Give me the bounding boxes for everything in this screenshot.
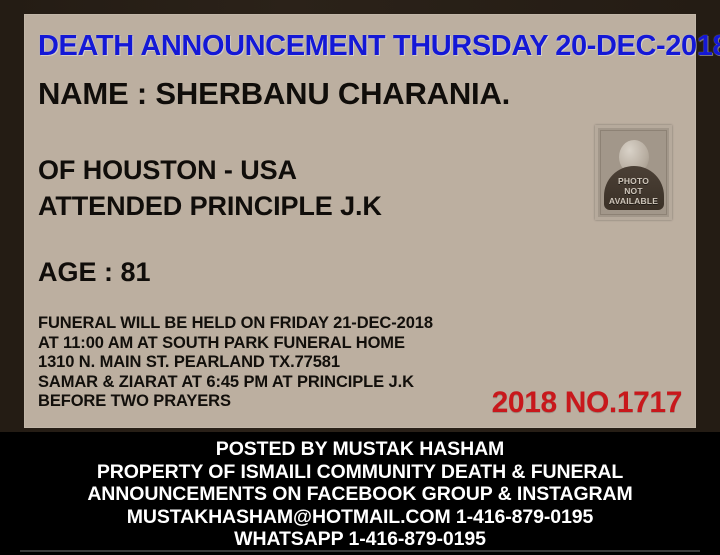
footer-divider xyxy=(20,550,700,552)
origin-line-1: OF HOUSTON - USA xyxy=(38,152,382,188)
detail-line: AT 11:00 AM AT SOUTH PARK FUNERAL HOME xyxy=(38,334,433,354)
age-line: AGE : 81 xyxy=(38,257,151,288)
footer-line-email-phone: MUSTAKHASHAM@HOTMAIL.COM 1-416-879-0195 xyxy=(0,506,720,529)
detail-line: FUNERAL WILL BE HELD ON FRIDAY 21-DEC-20… xyxy=(38,314,433,334)
death-announcement-poster: DEATH ANNOUNCEMENT THURSDAY 20-DEC-2018 … xyxy=(0,0,720,555)
page-title: DEATH ANNOUNCEMENT THURSDAY 20-DEC-2018 xyxy=(38,30,720,63)
detail-line: SAMAR & ZIARAT AT 6:45 PM AT PRINCIPLE J… xyxy=(38,373,433,393)
poster-footer: POSTED BY MUSTAK HASHAM PROPERTY OF ISMA… xyxy=(0,432,720,555)
notice-card: DEATH ANNOUNCEMENT THURSDAY 20-DEC-2018 … xyxy=(24,14,696,428)
origin-block: OF HOUSTON - USA ATTENDED PRINCIPLE J.K xyxy=(38,152,382,224)
origin-line-2: ATTENDED PRINCIPLE J.K xyxy=(38,188,382,224)
photo-placeholder-line-3: AVAILABLE xyxy=(601,196,666,206)
deceased-name: NAME : SHERBANU CHARANIA. xyxy=(38,76,510,112)
photo-placeholder-text: PHOTO NOT AVAILABLE xyxy=(601,176,666,206)
footer-line-posted-by: POSTED BY MUSTAK HASHAM xyxy=(0,438,720,461)
footer-line-property: PROPERTY OF ISMAILI COMMUNITY DEATH & FU… xyxy=(0,461,720,484)
photo-not-available-placeholder: PHOTO NOT AVAILABLE xyxy=(595,125,672,220)
photo-placeholder-line-1: PHOTO xyxy=(601,176,666,186)
reference-number: 2018 NO.1717 xyxy=(492,386,682,420)
detail-line: 1310 N. MAIN ST. PEARLAND TX.77581 xyxy=(38,353,433,373)
footer-line-whatsapp: WHATSAPP 1-416-879-0195 xyxy=(0,528,720,551)
footer-line-announcements: ANNOUNCEMENTS ON FACEBOOK GROUP & INSTAG… xyxy=(0,483,720,506)
funeral-details: FUNERAL WILL BE HELD ON FRIDAY 21-DEC-20… xyxy=(38,314,433,412)
detail-line: BEFORE TWO PRAYERS xyxy=(38,392,433,412)
photo-placeholder-line-2: NOT xyxy=(601,186,666,196)
photo-inner-border: PHOTO NOT AVAILABLE xyxy=(600,130,667,215)
